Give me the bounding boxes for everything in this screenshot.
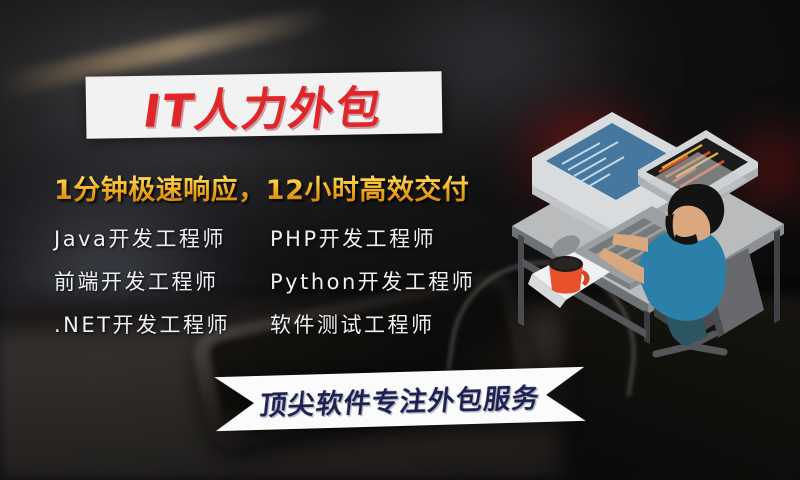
service-list: Java开发工程师 PHP开发工程师 前端开发工程师 Python开发工程师 .… (54, 216, 524, 345)
list-item: Java开发工程师 PHP开发工程师 (54, 216, 524, 259)
service-frontend: 前端开发工程师 (54, 266, 270, 296)
service-dotnet: .NET开发工程师 (54, 309, 270, 339)
developer-illustration (496, 58, 796, 358)
bottom-ribbon: 顶尖软件专注外包服务 (214, 367, 585, 431)
service-php: PHP开发工程师 (270, 223, 436, 253)
promo-banner: IT人力外包 1分钟极速响应，12小时高效交付 Java开发工程师 PHP开发工… (0, 0, 800, 480)
list-item: 前端开发工程师 Python开发工程师 (54, 259, 524, 302)
service-java: Java开发工程师 (54, 223, 270, 253)
page-title: IT人力外包 (82, 71, 447, 139)
service-qa: 软件测试工程师 (270, 309, 435, 339)
list-item: .NET开发工程师 软件测试工程师 (54, 302, 524, 345)
service-python: Python开发工程师 (270, 266, 475, 296)
subtitle: 1分钟极速响应，12小时高效交付 (54, 168, 469, 207)
ribbon-label: 顶尖软件专注外包服务 (212, 367, 588, 432)
title-plate: IT人力外包 (86, 71, 443, 139)
